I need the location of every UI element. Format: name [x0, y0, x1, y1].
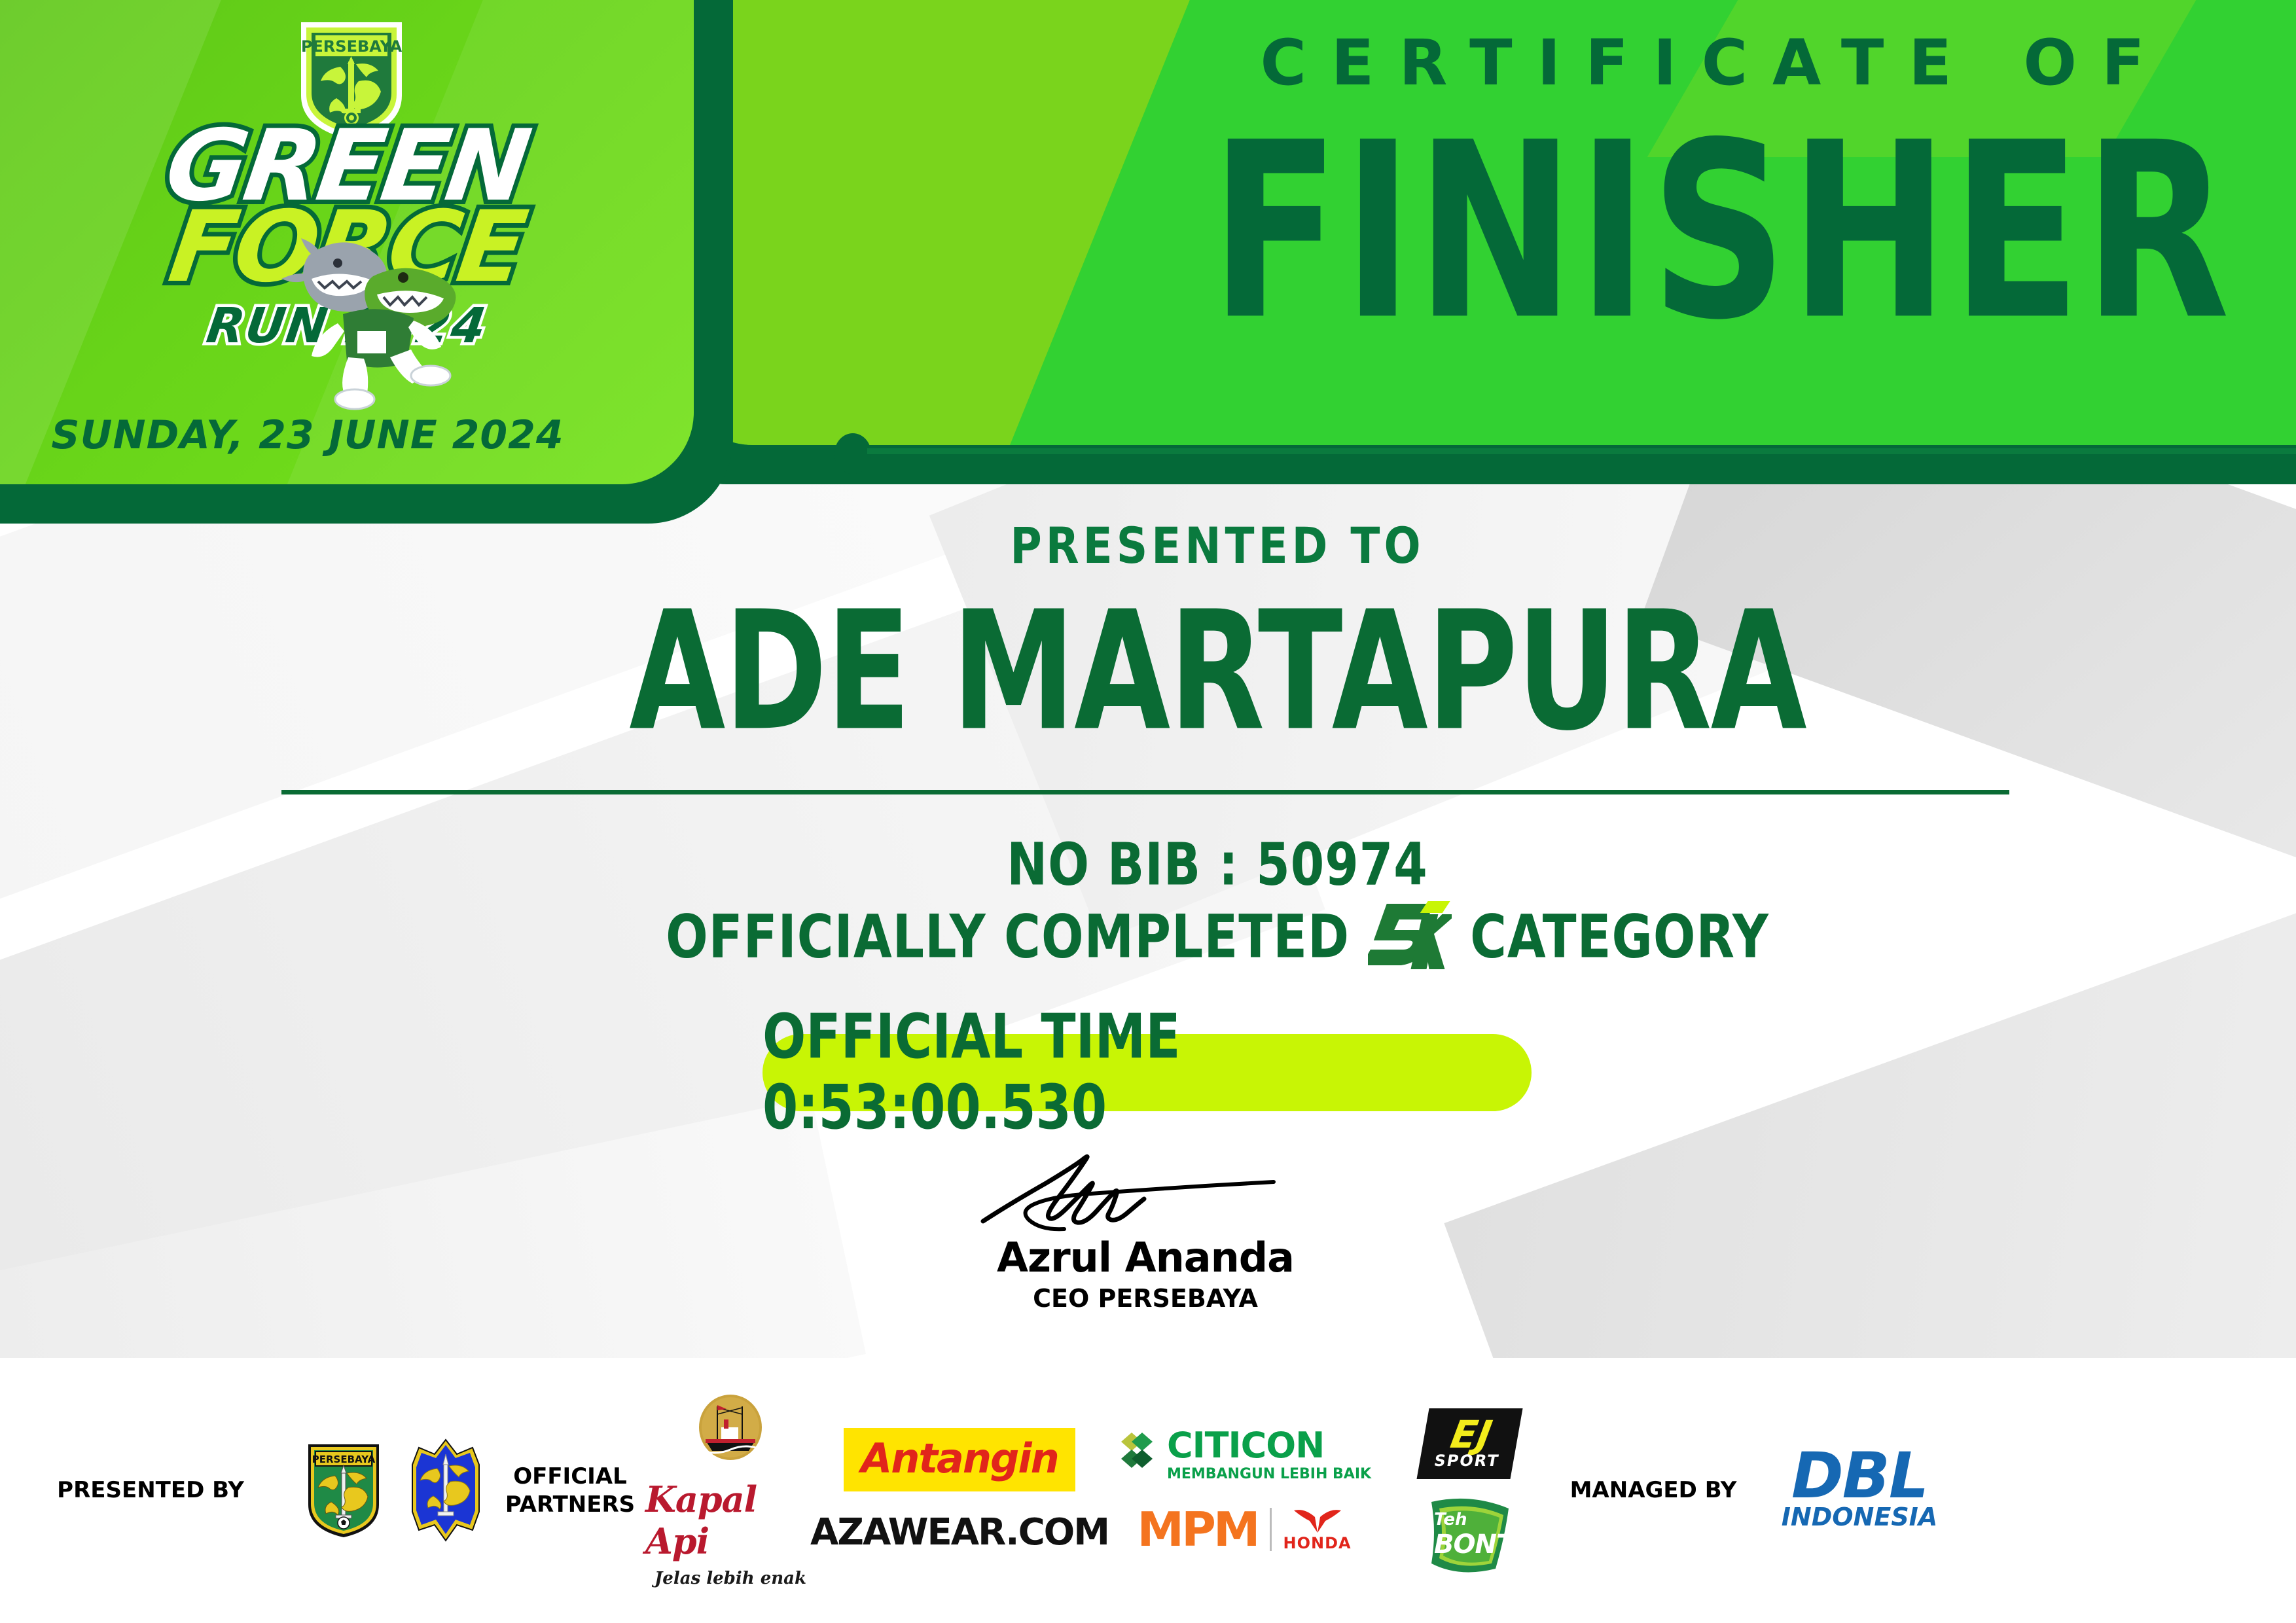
managed-by-label: MANAGED BY	[1555, 1476, 1751, 1505]
header-diagonal-a	[681, 0, 1259, 445]
antangin-logo: Antangin	[844, 1428, 1075, 1491]
antangin-name: Antangin	[861, 1435, 1058, 1482]
mpm-honda-logo: MPM HONDA	[1137, 1502, 1351, 1557]
official-time-badge: OFFICIAL TIME 0:53:00.530	[762, 1034, 1532, 1111]
svg-text:PERSEBAYA: PERSEBAYA	[301, 37, 403, 56]
footer-logo-persebaya: PERSEBAYA	[301, 1442, 386, 1540]
accent-line	[867, 448, 2296, 454]
official-partners-label: OFFICIAL PARTNERS	[495, 1463, 645, 1518]
svg-text:PERSEBAYA: PERSEBAYA	[312, 1454, 376, 1465]
ej-sport-logo: EJ SPORT	[1417, 1408, 1523, 1479]
dbl-sub: INDONESIA	[1782, 1503, 1937, 1531]
footer-logo-surabaya-city	[397, 1438, 495, 1543]
five-k-badge-icon	[1368, 900, 1452, 972]
signer-role: CEO PERSEBAYA	[903, 1284, 1388, 1313]
citicon-name: CITICON	[1167, 1425, 1324, 1466]
kapal-api-name: Kapal Api	[645, 1478, 816, 1562]
teh-bonteh-teh: Teh	[1434, 1510, 1552, 1529]
certificate-page: PERSEBAYA GREEN FORCE RUN 2024	[0, 0, 2296, 1623]
dbl-name: DBL	[1791, 1450, 1928, 1503]
kapal-api-tagline: Jelas lebih enak	[655, 1569, 806, 1588]
category-line: OFFICIALLY COMPLETED CATEGORY	[393, 900, 2042, 972]
accent-dot	[834, 433, 871, 474]
ej-sport-sub: SPORT	[1433, 1452, 1501, 1471]
signature-block: Azrul Ananda CEO PERSEBAYA	[903, 1152, 1388, 1313]
certificate-of-label: CERTIFICATE OF	[1178, 26, 2251, 99]
citicon-mark-icon	[1117, 1429, 1160, 1478]
honda-wing-icon	[1293, 1507, 1342, 1534]
teh-bonteh-name: BONTEH	[1434, 1529, 1552, 1560]
bib-number: NO BIB : 50974	[694, 831, 1741, 899]
event-date: SUNDAY, 23 JUNE 2024	[0, 412, 615, 458]
footer-logo-kapal-api: Kapal Api Jelas lebih enak	[645, 1393, 816, 1588]
mascot-shark-crocodile-icon	[275, 216, 484, 416]
sponsor-footer: PRESENTED BY PERSEBAYA	[0, 1358, 2296, 1623]
citicon-tagline: MEMBANGUN LEBIH BAIK	[1167, 1466, 1371, 1482]
recipient-name: ADE MARTAPURA	[393, 576, 2042, 767]
signer-name: Azrul Ananda	[903, 1234, 1388, 1281]
honda-name: HONDA	[1283, 1534, 1352, 1552]
footer-logo-ej-bonteh: EJ SPORT Teh BONTEH	[1385, 1408, 1555, 1572]
name-divider	[281, 790, 2009, 794]
citicon-logo: CITICON MEMBANGUN LEBIH BAIK	[1117, 1425, 1371, 1482]
ej-name: EJ	[1436, 1418, 1507, 1452]
finisher-title: FINISHER	[1178, 111, 2265, 354]
signature-icon	[949, 1152, 1342, 1237]
presented-by-label: PRESENTED BY	[0, 1476, 301, 1505]
azawear-logo: AZAWEAR.COM	[810, 1511, 1109, 1554]
footer-logo-antangin-azawear: Antangin AZAWEAR.COM	[816, 1428, 1103, 1554]
mpm-name: MPM	[1137, 1502, 1257, 1557]
teh-bonteh-logo: Teh BONTEH	[1421, 1495, 1519, 1573]
kapal-api-ship-icon	[691, 1393, 770, 1472]
official-time-text: OFFICIAL TIME 0:53:00.530	[762, 1002, 1532, 1143]
completed-prefix: OFFICIALLY COMPLETED	[666, 901, 1350, 971]
presented-to-label: PRESENTED TO	[694, 517, 1741, 575]
footer-logo-dbl-indonesia: DBL INDONESIA	[1751, 1450, 1967, 1532]
completed-suffix: CATEGORY	[1470, 901, 1769, 971]
footer-logo-citicon-mpm: CITICON MEMBANGUN LEBIH BAIK MPM HONDA	[1103, 1425, 1385, 1557]
